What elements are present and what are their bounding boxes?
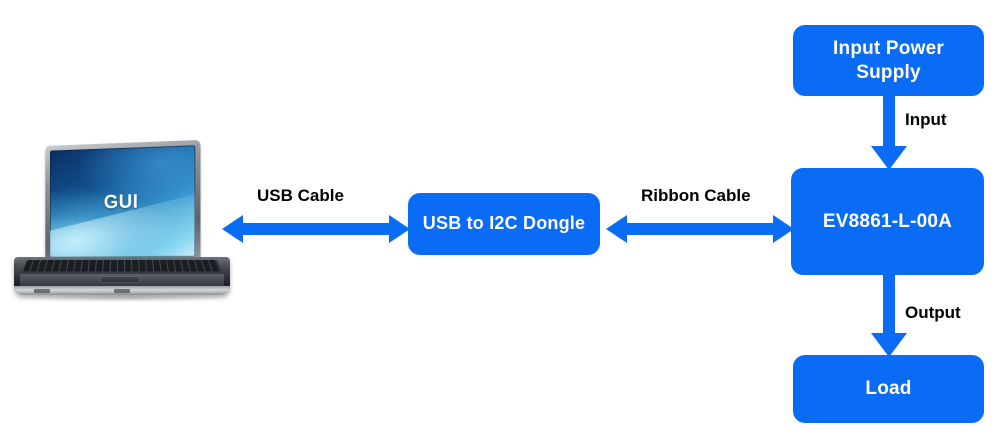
laptop-trackpad: [100, 276, 140, 283]
usb-cable-arrow: [222, 212, 410, 246]
ribbon-cable-arrow: [606, 212, 794, 246]
input-arrow: [871, 96, 907, 170]
node-usb-to-i2c-dongle[interactable]: USB to I2C Dongle: [408, 193, 600, 255]
node-usb-to-i2c-dongle-label: USB to I2C Dongle: [423, 213, 585, 235]
output-label: Output: [905, 303, 961, 323]
output-arrow: [871, 275, 907, 357]
block-diagram: GUI USB Cable USB to I2C Dongle Ribbon C…: [0, 0, 1004, 446]
laptop-shadow: [24, 293, 220, 302]
laptop-keyboard: [23, 260, 221, 272]
usb-cable-label: USB Cable: [257, 186, 344, 206]
node-load-label: Load: [865, 377, 911, 400]
laptop-lid: GUI: [45, 140, 200, 265]
node-ev8861-l-00a[interactable]: EV8861-L-00A: [791, 168, 984, 275]
gui-label: GUI: [104, 191, 139, 214]
node-input-power-supply-label: Input Power Supply: [833, 37, 944, 83]
ribbon-cable-label: Ribbon Cable: [641, 186, 751, 206]
node-ev8861-l-00a-label: EV8861-L-00A: [823, 210, 952, 233]
laptop-illustration: GUI: [14, 143, 230, 303]
node-load[interactable]: Load: [793, 355, 984, 423]
node-input-power-supply[interactable]: Input Power Supply: [793, 25, 984, 96]
laptop-base: [14, 257, 230, 295]
input-label: Input: [905, 110, 947, 130]
laptop-screen: GUI: [50, 145, 195, 257]
